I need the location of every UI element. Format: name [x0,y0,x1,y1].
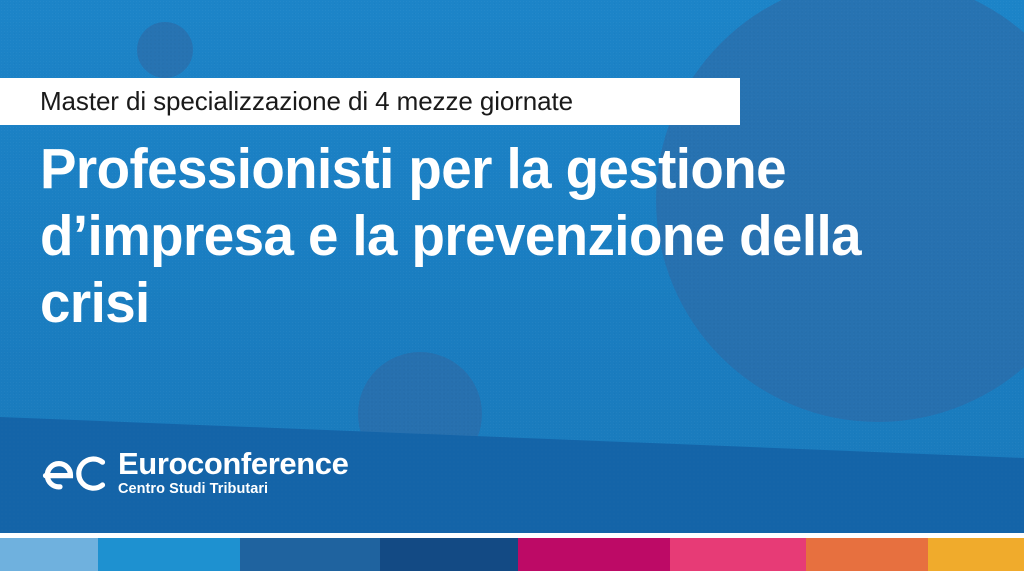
euroconference-logo: Euroconference Centro Studi Tributari [40,447,348,498]
logo-tagline: Centro Studi Tributari [118,481,348,498]
eyebrow-text: Master di specializzazione di 4 mezze gi… [40,86,573,117]
logo-name: Euroconference [118,447,348,480]
color-bar-segment-steel-blue [240,538,380,571]
headline-line-2: d’impresa e la prevenzione della [40,203,923,270]
color-bar-segment-light-blue [0,538,98,571]
eyebrow-label: Master di specializzazione di 4 mezze gi… [0,78,740,125]
promo-banner: Master di specializzazione di 4 mezze gi… [0,0,1024,571]
decorative-circle-small [137,22,193,78]
color-bar-segment-sky-blue [98,538,240,571]
color-bar-segment-amber [928,538,1024,571]
color-bar-segment-orange [806,538,928,571]
brand-color-bar [0,538,1024,571]
circle-texture [137,22,193,78]
headline-line-1: Professionisti per la gestione [40,136,923,203]
color-bar-segment-magenta [518,538,670,571]
logo-wordmark: Euroconference Centro Studi Tributari [118,447,348,498]
color-bar-segment-pink [670,538,806,571]
headline-line-3: crisi [40,270,923,337]
color-bar-segment-navy-blue [380,538,518,571]
ec-monogram-icon [40,450,108,496]
page-title: Professionisti per la gestione d’impresa… [40,136,960,337]
